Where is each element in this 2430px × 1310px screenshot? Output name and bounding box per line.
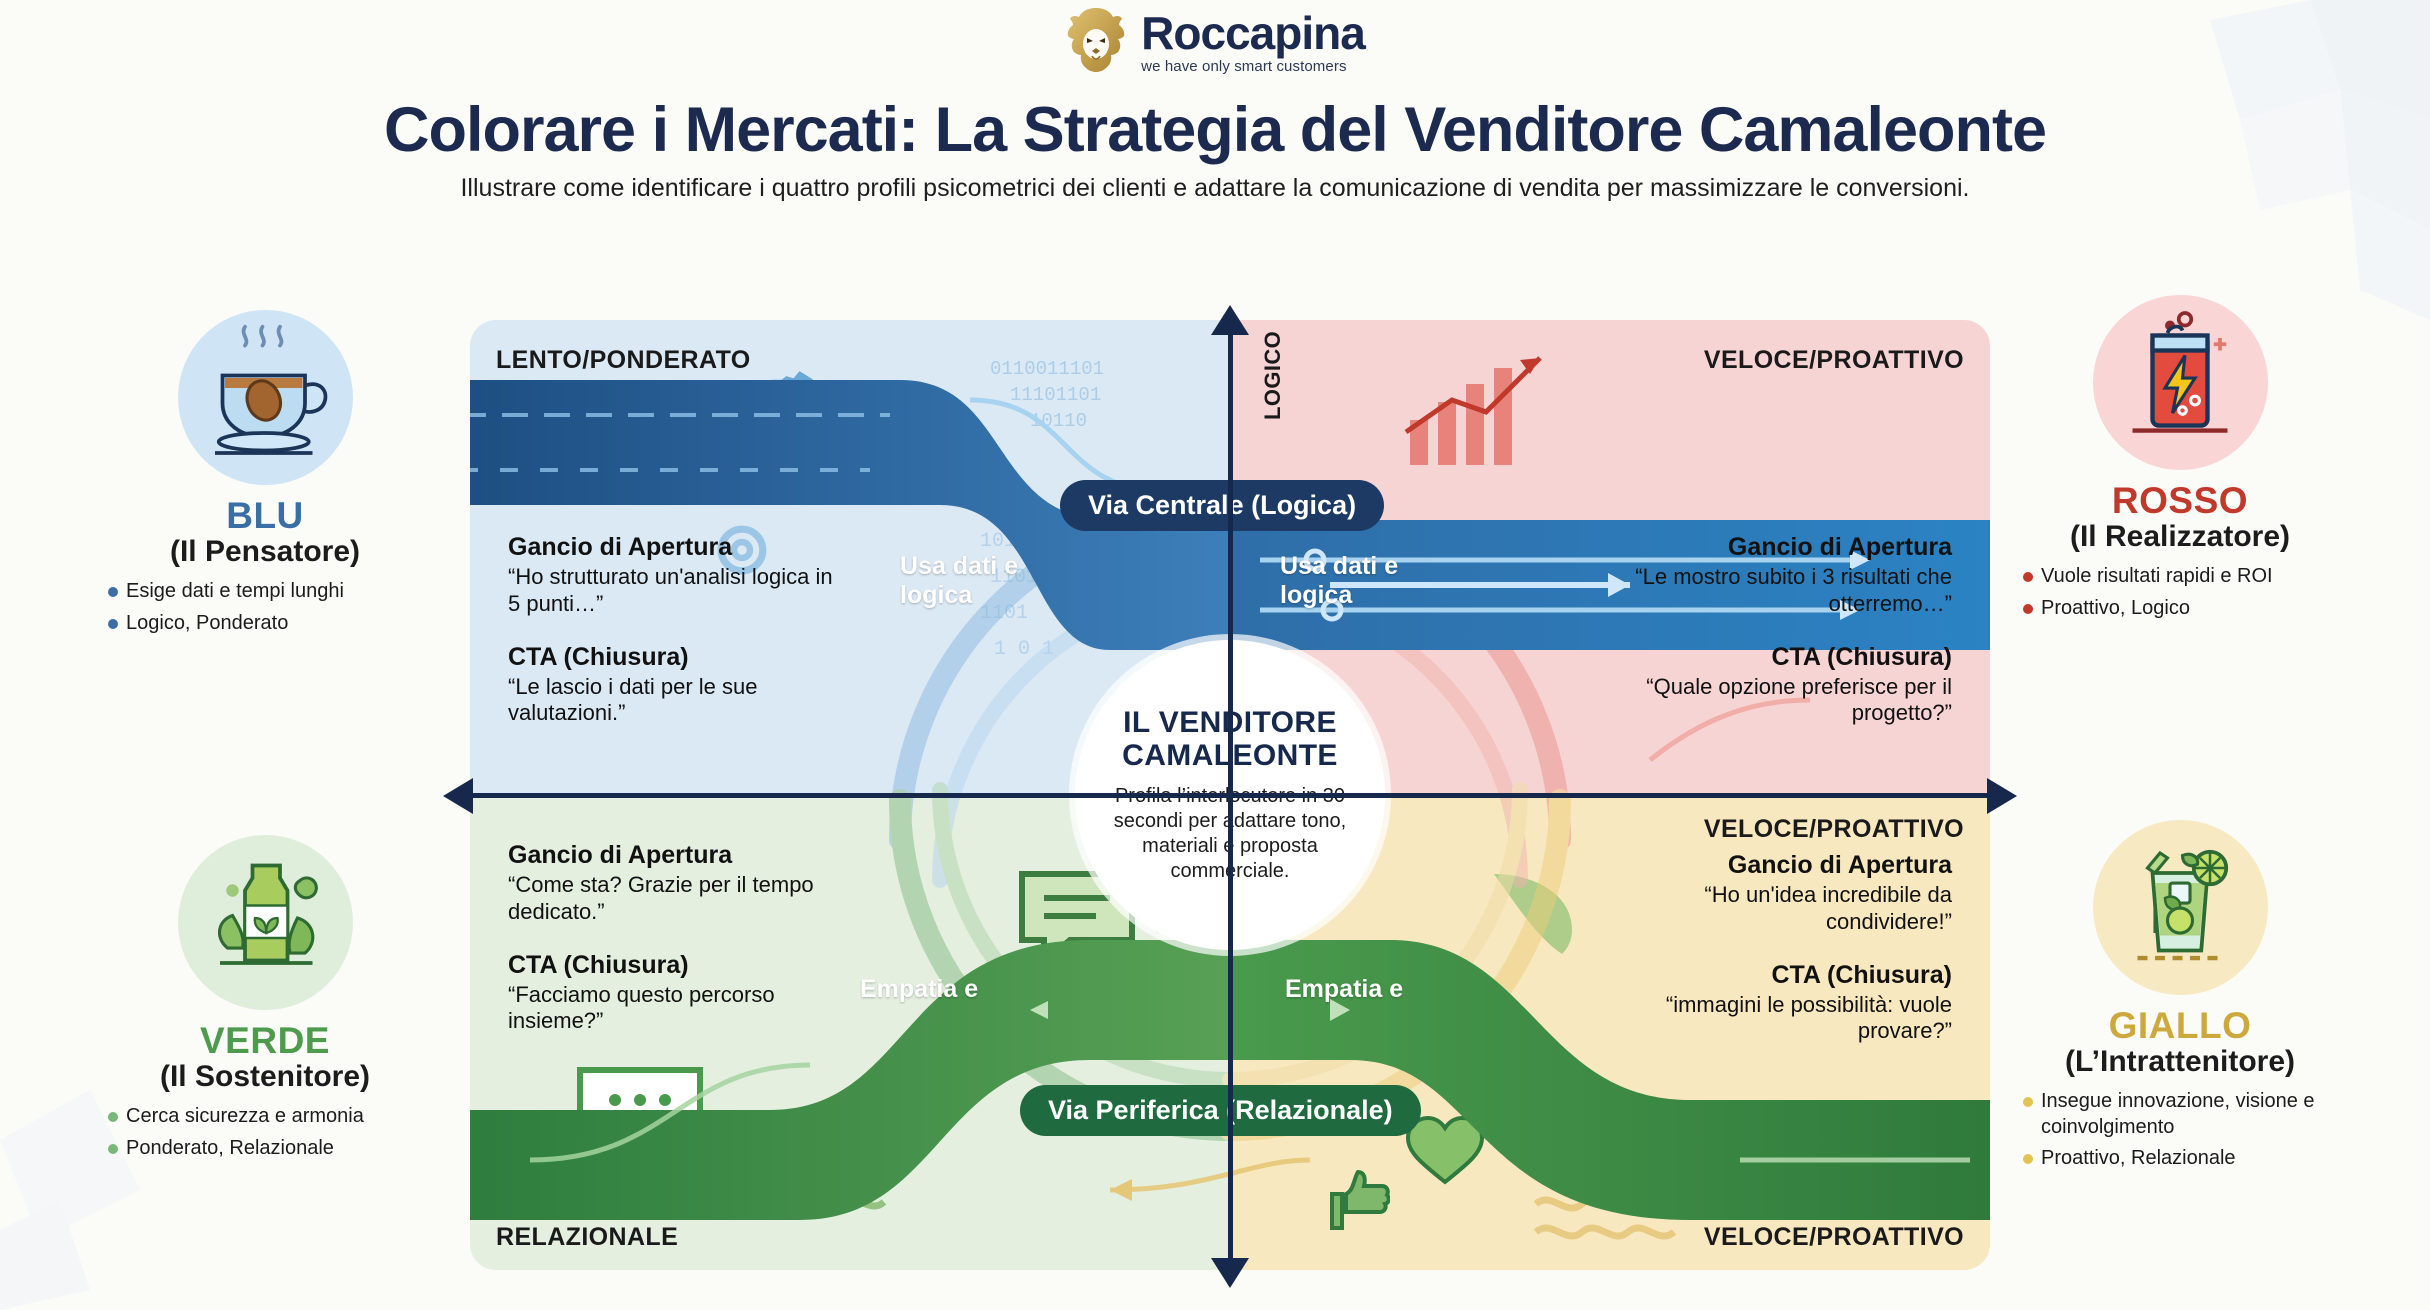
axis-vertical-arrow-down	[1211, 1258, 1249, 1288]
mojito-glass-icon	[2093, 820, 2268, 995]
list-item: Cerca sicurezza e armonia	[106, 1104, 424, 1130]
profile-card-verde: VERDE (Il Sostenitore) Cerca sicurezza e…	[100, 835, 430, 1167]
content-block-rosso: Gancio di Apertura “Le mostro subito i 3…	[1622, 532, 1952, 727]
list-item: Proattivo, Logico	[2021, 596, 2339, 622]
lion-head-icon	[1065, 6, 1127, 78]
content-block-verde: Gancio di Apertura “Come sta? Grazie per…	[508, 840, 838, 1035]
band-label-empathy-right: Empatia e	[1285, 975, 1455, 1004]
hook-heading: Gancio di Apertura	[508, 840, 838, 870]
profile-role: (L’Intrattenitore)	[2015, 1045, 2345, 1079]
cta-quote: “Quale opzione preferisce per il progett…	[1622, 674, 1952, 728]
axis-horizontal-arrow-right	[1987, 778, 2017, 814]
list-item: Esige dati e tempi lunghi	[106, 579, 424, 605]
band-label-logic-left: Usa dati e logica	[900, 552, 1050, 610]
brand-name: Roccapina	[1141, 10, 1365, 56]
page-subtitle: Illustrare come identificare i quattro p…	[0, 174, 2430, 203]
band-label-empathy-left: Empatia e	[860, 975, 1030, 1004]
profile-bullets: Insegue innovazione, visione e coinvolgi…	[2015, 1089, 2345, 1172]
profile-bullets: Cerca sicurezza e armonia Ponderato, Rel…	[100, 1104, 430, 1161]
band-label-logic-right: Usa dati e logica	[1280, 552, 1430, 610]
pill-via-centrale: Via Centrale (Logica)	[1060, 480, 1384, 531]
hook-quote: “Come sta? Grazie per il tempo dedicato.…	[508, 872, 838, 926]
profile-name: VERDE	[100, 1020, 430, 1062]
cta-quote: “Facciamo questo percorso insieme?”	[508, 982, 838, 1036]
cta-quote: “immagini le possibilità: vuole provare?…	[1622, 992, 1952, 1046]
profile-card-giallo: GIALLO (L’Intrattenitore) Insegue innova…	[2015, 820, 2345, 1178]
profile-role: (Il Realizzatore)	[2015, 520, 2345, 554]
brand-tagline: we have only smart customers	[1141, 59, 1365, 74]
profile-name: BLU	[100, 495, 430, 537]
cta-heading: CTA (Chiusura)	[508, 642, 838, 672]
hook-quote: “Le mostro subito i 3 risultati che otte…	[1622, 564, 1952, 618]
profile-name: GIALLO	[2015, 1005, 2345, 1047]
pill-via-periferica: Via Periferica (Relazionale)	[1020, 1085, 1421, 1136]
cta-heading: CTA (Chiusura)	[1622, 960, 1952, 990]
hook-quote: “Ho strutturato un'analisi logica in 5 p…	[508, 564, 838, 618]
cta-heading: CTA (Chiusura)	[508, 950, 838, 980]
profile-card-blu: BLU (Il Pensatore) Esige dati e tempi lu…	[100, 310, 430, 642]
coffee-cup-icon	[178, 310, 353, 485]
profile-name: ROSSO	[2015, 480, 2345, 522]
energy-drink-can-icon	[2093, 295, 2268, 470]
profile-bullets: Esige dati e tempi lunghi Logico, Ponder…	[100, 579, 430, 636]
profile-role: (Il Sostenitore)	[100, 1060, 430, 1094]
page-title: Colorare i Mercati: La Strategia del Ven…	[0, 94, 2430, 166]
list-item: Vuole risultati rapidi e ROI	[2021, 564, 2339, 590]
hook-quote: “Ho un'idea incredibile da condividere!”	[1622, 882, 1952, 936]
list-item: Insegue innovazione, visione e coinvolgi…	[2021, 1089, 2339, 1140]
hook-heading: Gancio di Apertura	[508, 532, 838, 562]
brand-logo: Roccapina we have only smart customers	[0, 0, 2430, 78]
list-item: Proattivo, Relazionale	[2021, 1146, 2339, 1172]
axis-horizontal-arrow-left	[443, 778, 473, 814]
hook-heading: Gancio di Apertura	[1622, 532, 1952, 562]
page-header: Roccapina we have only smart customers C…	[0, 0, 2430, 203]
profile-role: (Il Pensatore)	[100, 535, 430, 569]
cta-quote: “Le lascio i dati per le sue valutazioni…	[508, 674, 838, 728]
profile-card-rosso: ROSSO (Il Realizzatore) Vuole risultati …	[2015, 295, 2345, 627]
profile-bullets: Vuole risultati rapidi e ROI Proattivo, …	[2015, 564, 2345, 621]
content-block-giallo: Gancio di Apertura “Ho un'idea incredibi…	[1622, 850, 1952, 1045]
cta-heading: CTA (Chiusura)	[1622, 642, 1952, 672]
axis-vertical-arrow-up	[1211, 305, 1249, 335]
green-bottle-icon	[178, 835, 353, 1010]
axis-label-logico: LOGICO	[1260, 331, 1286, 420]
list-item: Ponderato, Relazionale	[106, 1136, 424, 1162]
axis-horizontal	[470, 793, 1990, 798]
hook-heading: Gancio di Apertura	[1622, 850, 1952, 880]
list-item: Logico, Ponderato	[106, 611, 424, 637]
content-block-blu: Gancio di Apertura “Ho strutturato un'an…	[508, 532, 838, 727]
